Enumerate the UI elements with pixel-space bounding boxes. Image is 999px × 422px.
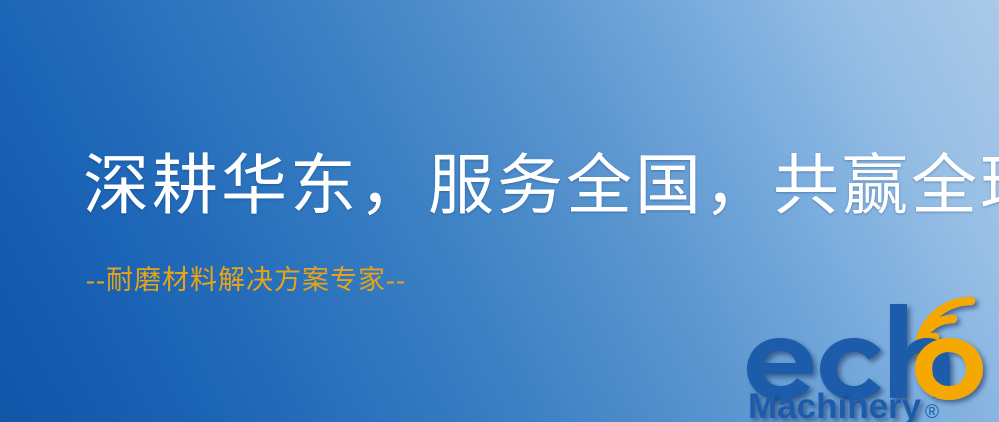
echo-machinery-logo[interactable]: Machinery ® [742, 296, 999, 422]
hero-banner: 深耕华东，服务全国，共赢全球 --耐磨材料解决方案专家-- [0, 0, 999, 422]
registered-mark: ® [925, 402, 939, 422]
banner-headline: 深耕华东，服务全国，共赢全球 [83, 152, 999, 221]
banner-subtitle: --耐磨材料解决方案专家-- [86, 266, 406, 296]
logo-tagline: Machinery [748, 387, 922, 422]
